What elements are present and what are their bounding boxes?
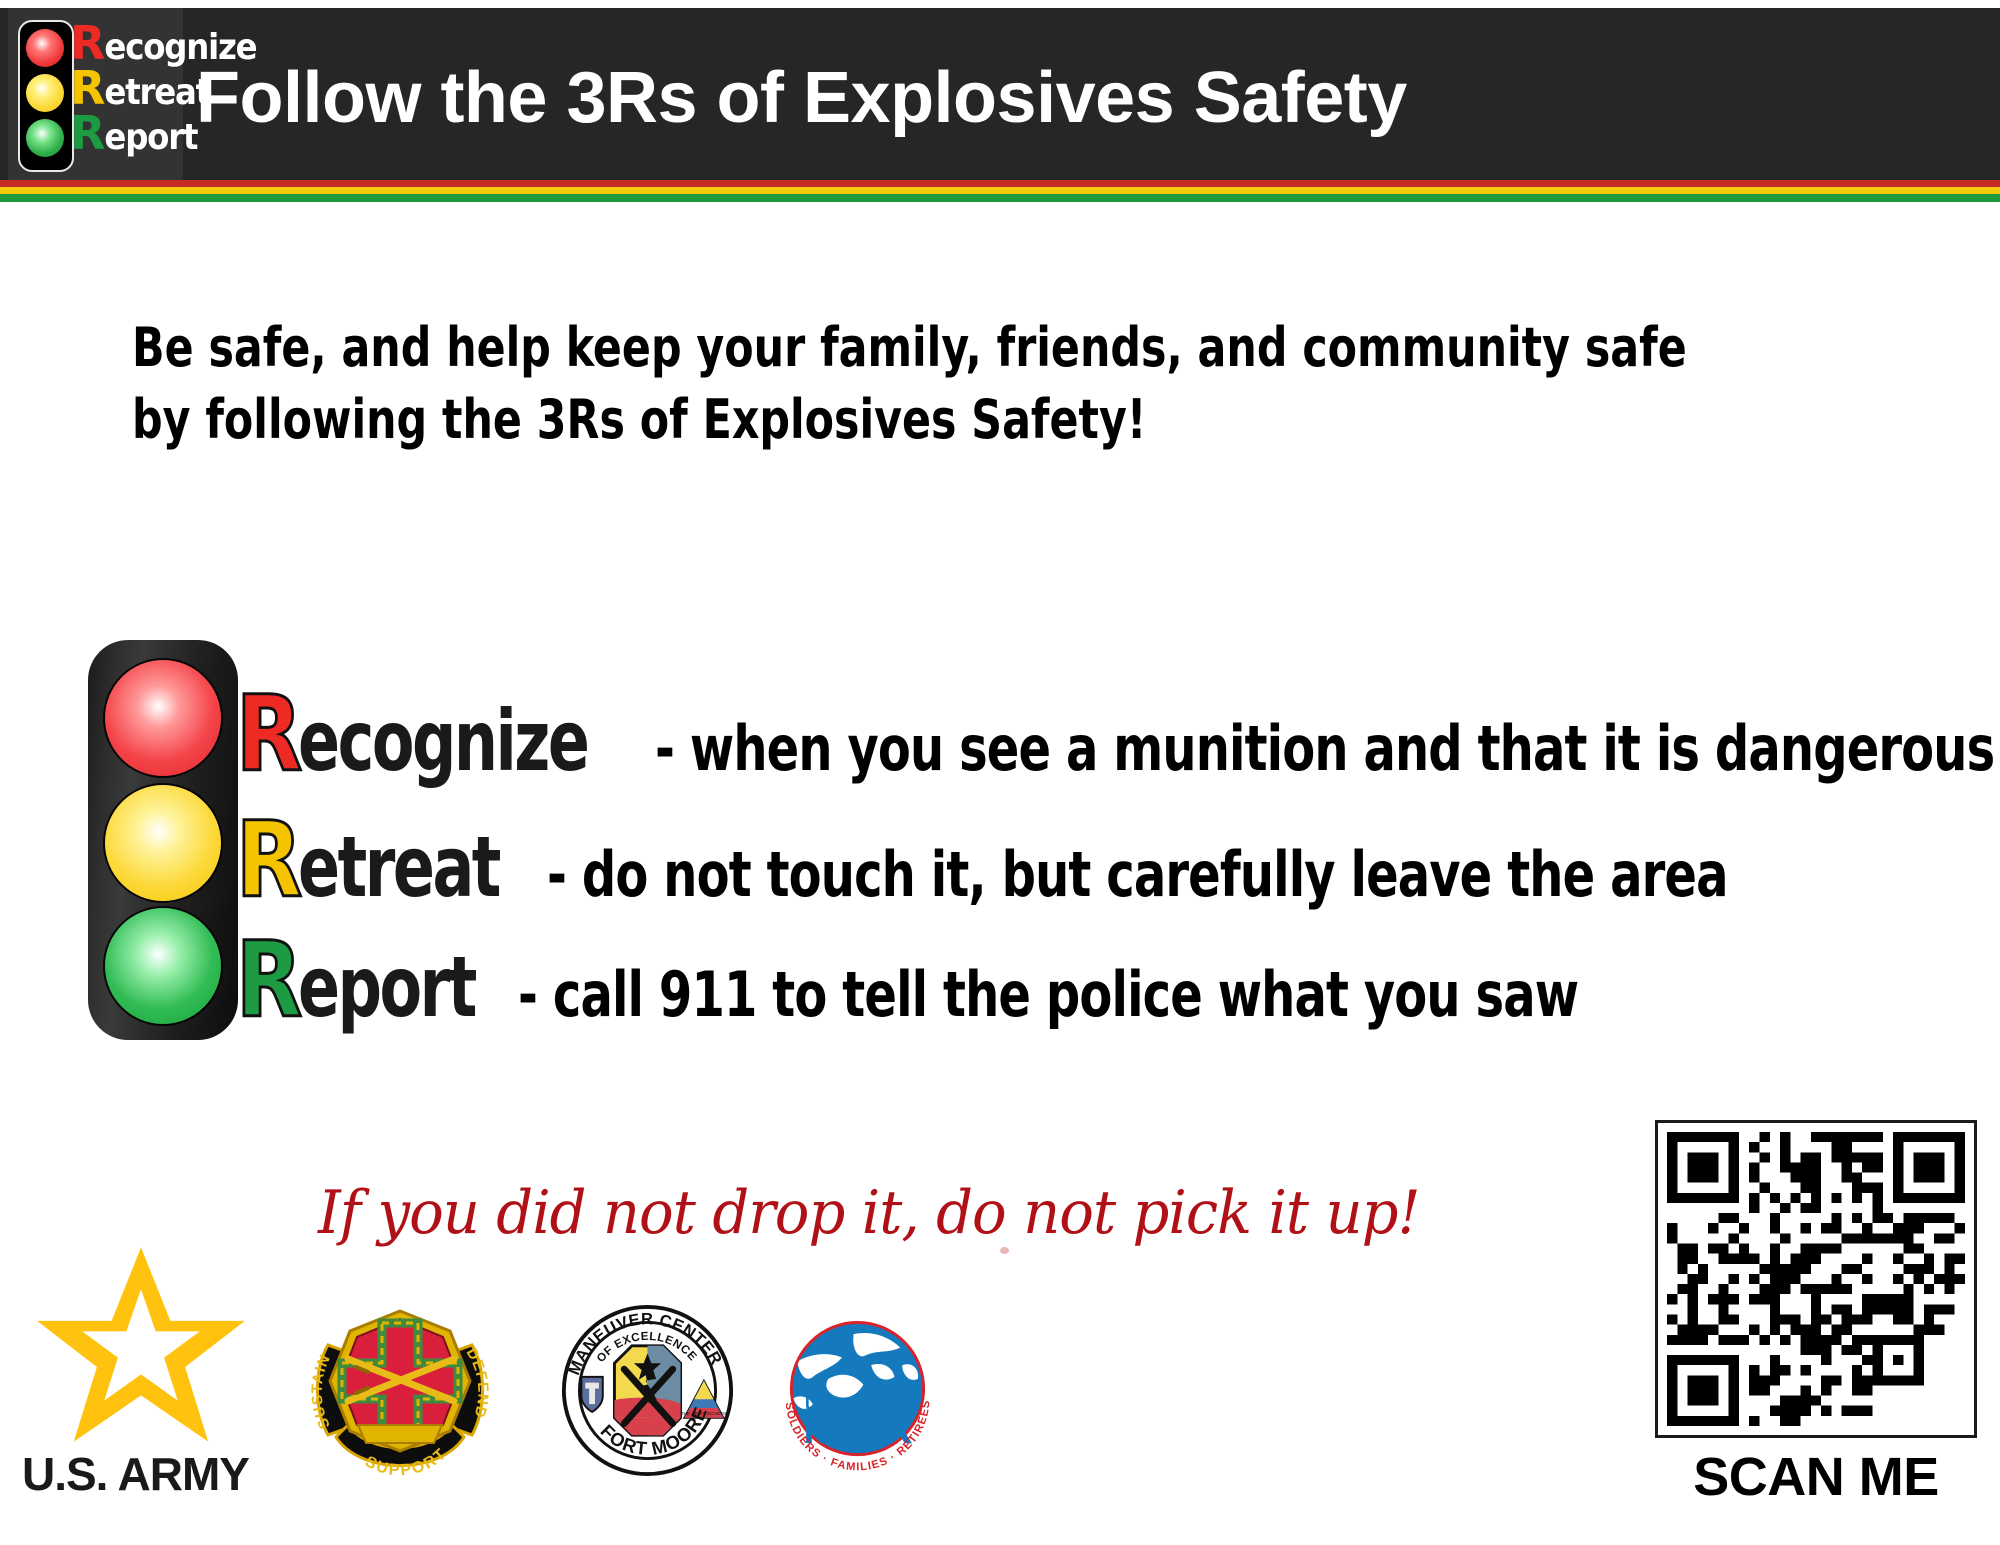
rule-initial-recognize: R [236, 682, 299, 786]
rule-row-report: Report- call 911 to tell the police what… [236, 928, 1751, 1032]
qr-section: SCAN ME [1655, 1120, 1985, 1540]
us-army-logo: U.S. ARMY [22, 1245, 272, 1515]
rule-word-retreat: etreat [298, 825, 499, 909]
logo-line-report: Report [70, 110, 197, 156]
red-lamp-icon [105, 660, 221, 776]
traffic-light-icon [88, 640, 238, 1040]
rule-word-recognize: ecognize [298, 699, 587, 783]
three-rs-block: Recognize- when you see a munition and t… [0, 640, 2000, 1060]
logo-yellow-lamp-icon [26, 74, 64, 112]
rule-desc-recognize: - when you see a munition and that it is… [655, 718, 1994, 780]
qr-code-image [1667, 1132, 1965, 1426]
logo-line-retreat: Retreat [70, 65, 210, 111]
rule-row-recognize: Recognize- when you see a munition and t… [236, 682, 2000, 786]
qr-code[interactable] [1655, 1120, 1977, 1438]
stripe-yellow [0, 187, 2000, 194]
logo-word-retreat: etreat [104, 72, 210, 113]
army-mwr-logo: U.S. ARMY MWR SOLDIERS · FAMILIES · RETI… [770, 1305, 945, 1480]
logo-traffic-light-icon [18, 20, 74, 172]
rule-word-report: eport [298, 945, 475, 1029]
page-title: Follow the 3Rs of Explosives Safety [196, 62, 1407, 134]
fort-moore-seal-logo: THE ARMY SCHOOL MANEUVER CENTER OF EXCEL… [560, 1303, 735, 1478]
yellow-lamp-icon [105, 785, 221, 901]
page-header: Recognize Retreat Report Follow the 3Rs … [0, 8, 2000, 180]
logo-word-report: eport [104, 117, 197, 158]
tagline-text: If you did not drop it, do not pick it u… [318, 1178, 1420, 1248]
tricolor-divider [0, 180, 2000, 202]
rule-row-retreat: Retreat- do not touch it, but carefully … [236, 808, 1920, 912]
logo-red-lamp-icon [26, 29, 64, 67]
3rs-logo: Recognize Retreat Report [8, 8, 183, 180]
logo-initial-r-green: R [70, 106, 104, 160]
qr-caption: SCAN ME [1655, 1446, 1977, 1508]
army-star-icon [36, 1245, 246, 1445]
rule-desc-retreat: - do not touch it, but carefully leave t… [547, 844, 1728, 906]
stripe-green [0, 194, 2000, 202]
mwr-main-label: MWR [803, 1404, 913, 1453]
intro-paragraph: Be safe, and help keep your family, frie… [132, 312, 1716, 456]
rule-initial-retreat: R [236, 808, 299, 912]
imcom-crest-logo: SUSTAIN DEFEND SUPPORT [310, 1297, 490, 1482]
logo-green-lamp-icon [26, 119, 64, 157]
stripe-red [0, 180, 2000, 187]
rule-initial-report: R [236, 928, 299, 1032]
rule-desc-report: - call 911 to tell the police what you s… [518, 964, 1578, 1026]
us-army-label: U.S. ARMY [22, 1447, 272, 1501]
green-lamp-icon [105, 908, 221, 1024]
